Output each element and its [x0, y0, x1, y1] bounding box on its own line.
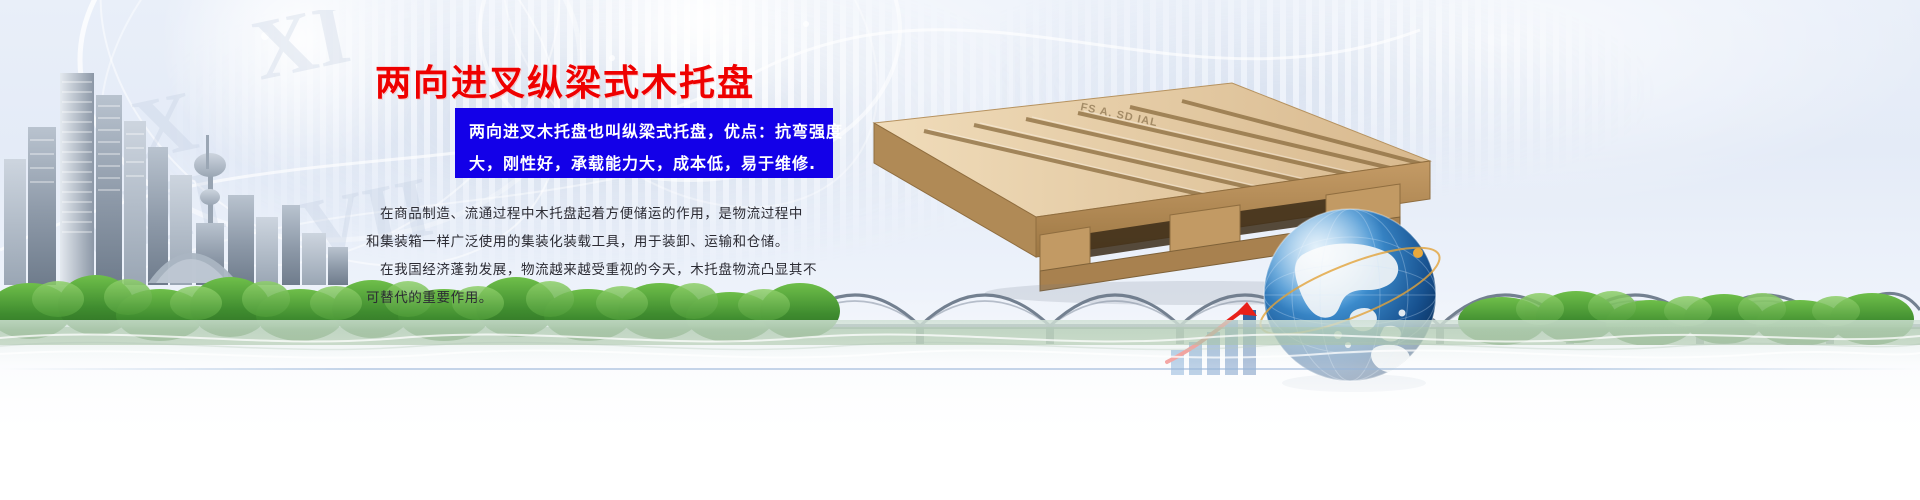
body-line-2: 和集装箱一样广泛使用的集装化装载工具，用于装卸、运输和仓储。	[366, 228, 856, 256]
sky-gradient-background	[0, 0, 1920, 300]
blue-earth-globe	[1250, 195, 1450, 395]
dot-matrix-motif-right	[1000, 0, 1700, 230]
arch-bridge-silhouette	[780, 240, 1920, 350]
svg-text:X: X	[124, 72, 205, 179]
wooden-pallet-photo: FS A. SD IAL	[840, 65, 1460, 305]
svg-text:FS A. SD IAL: FS A. SD IAL	[1079, 101, 1159, 129]
water-reflection	[0, 320, 1920, 420]
banner-title: 两向进叉纵梁式木托盘	[375, 54, 755, 106]
green-tree-line	[0, 265, 1920, 345]
body-line-4: 可替代的重要作用。	[366, 284, 856, 312]
svg-text:XI: XI	[244, 10, 357, 99]
growth-bar-chart	[1165, 300, 1295, 375]
red-growth-arrow	[1167, 302, 1257, 362]
network-lines-motif	[0, 0, 1920, 330]
highlight-line-2: 大，刚性好，承载能力大，成本低，易于维修.	[469, 150, 816, 174]
svg-text:VIII: VIII	[60, 151, 233, 279]
body-line-1: 在商品制造、流通过程中木托盘起着方便储运的作用，是物流过程中	[366, 200, 856, 228]
product-banner: XI X VIII VII	[0, 0, 1920, 500]
horizontal-divider	[0, 368, 1920, 370]
banner-body-copy: 在商品制造、流通过程中木托盘起着方便储运的作用，是物流过程中 和集装箱一样广泛使…	[366, 200, 856, 312]
body-line-3: 在我国经济蓬勃发展，物流越来越受重视的今天，木托盘物流凸显其不	[366, 256, 856, 284]
highlight-line-1: 两向进叉木托盘也叫纵梁式托盘，优点：抗弯强度	[469, 118, 843, 142]
bottom-white-fade	[0, 330, 1920, 500]
highlight-callout-box: 两向进叉木托盘也叫纵梁式托盘，优点：抗弯强度 大，刚性好，承载能力大，成本低，易…	[455, 108, 833, 178]
